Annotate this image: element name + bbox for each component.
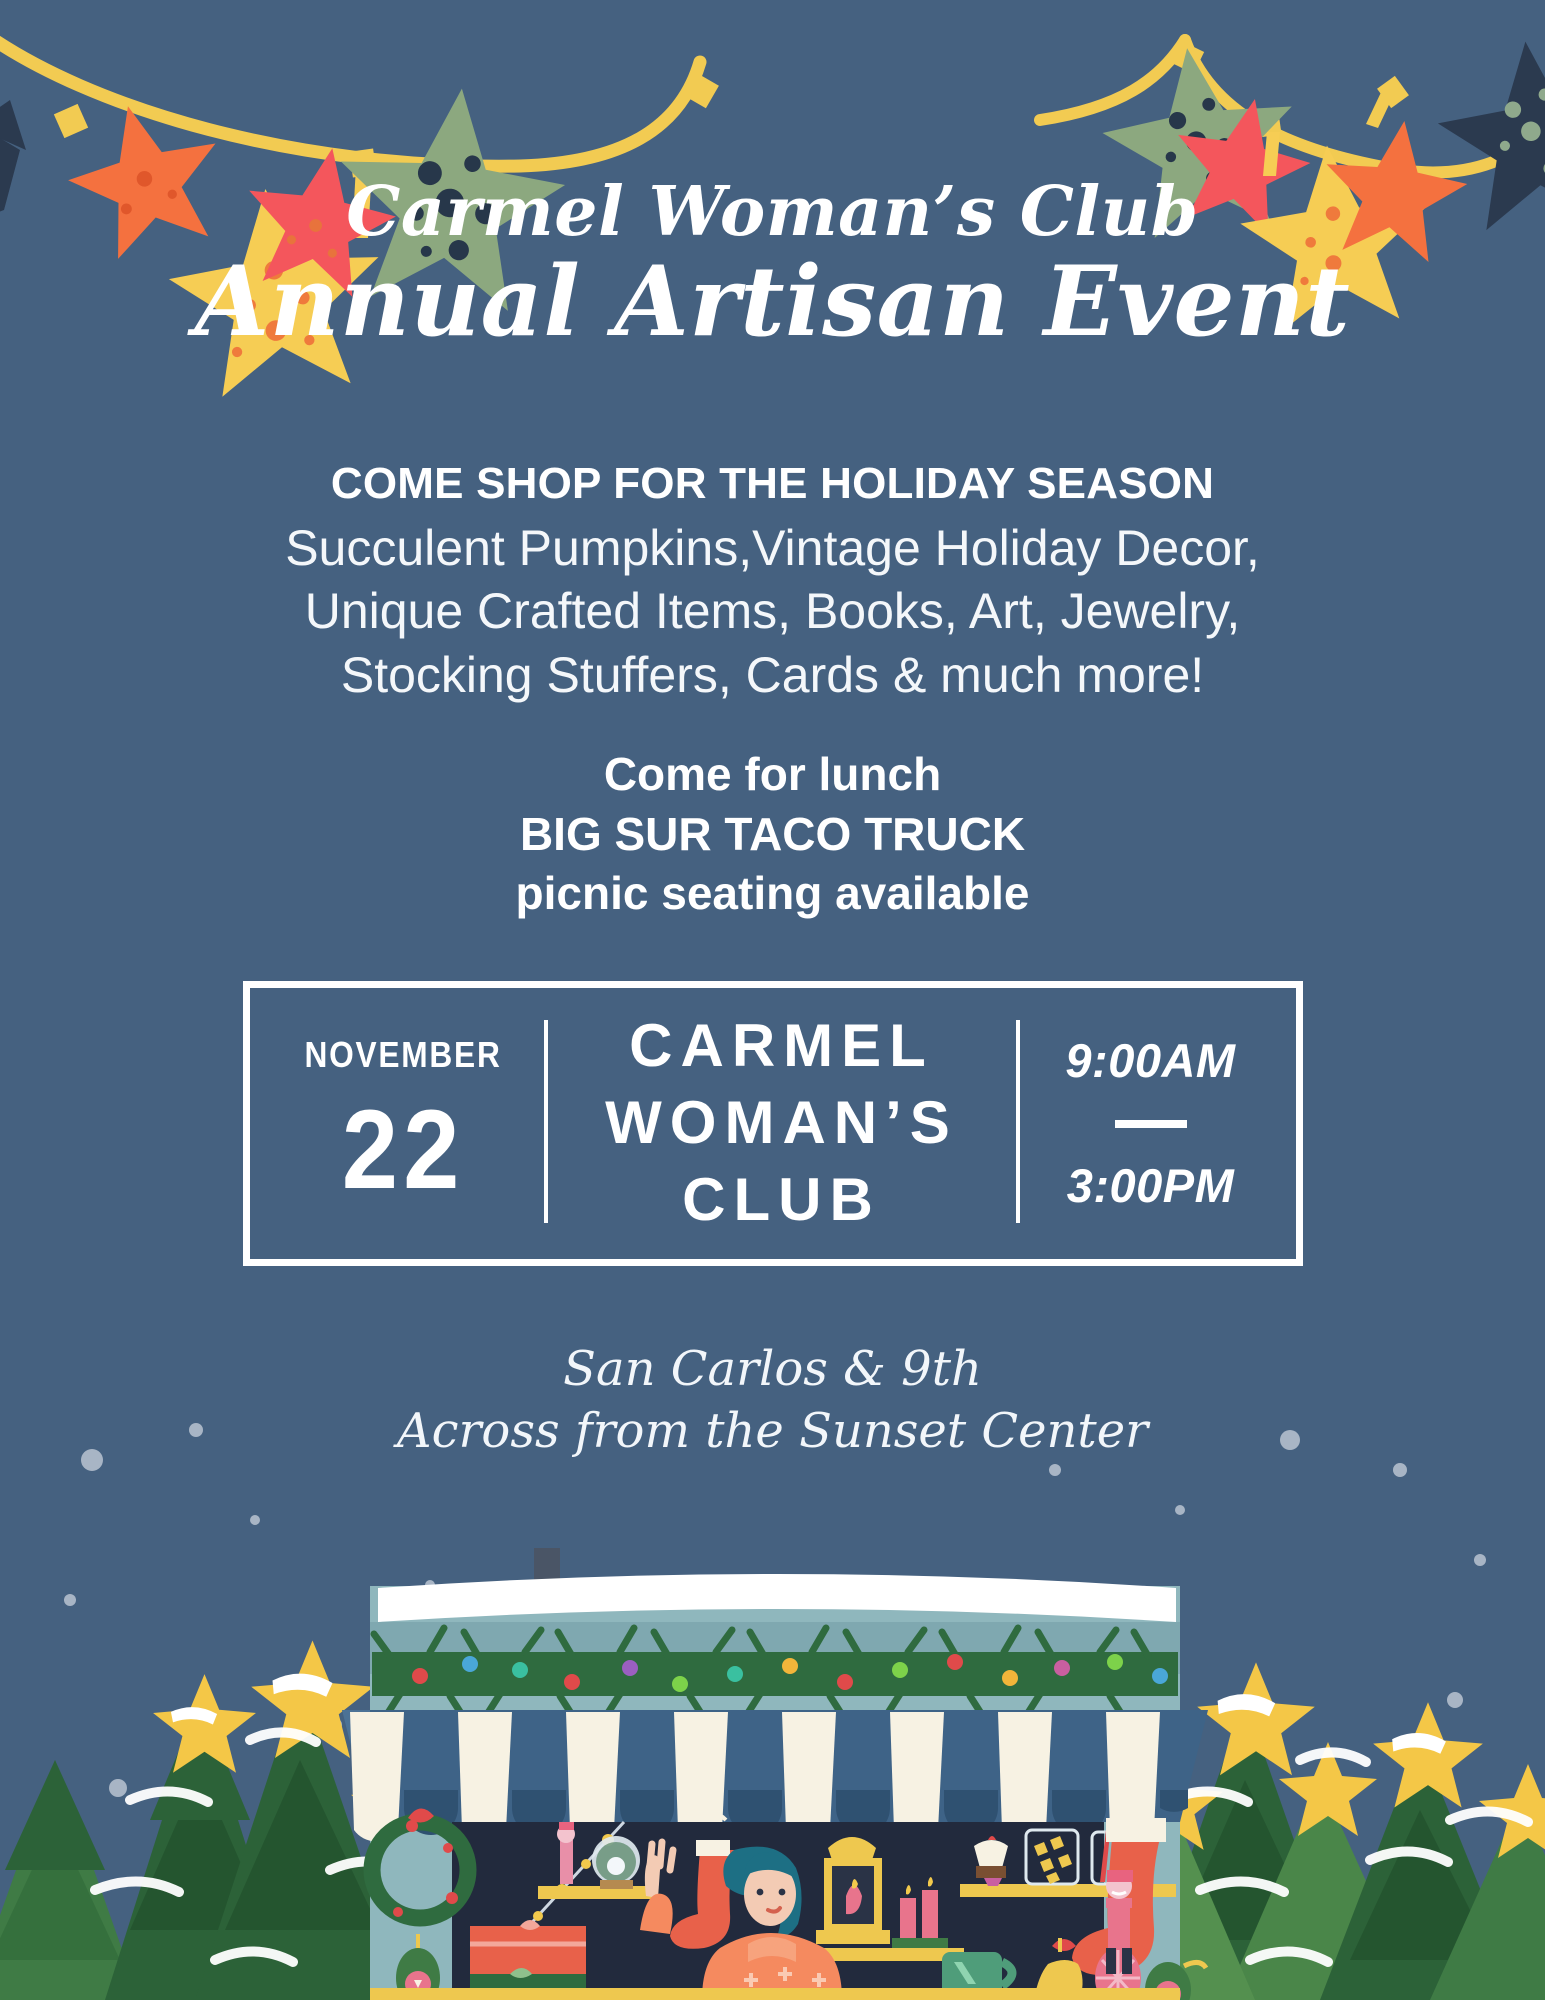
mug: [942, 1952, 1012, 2000]
fairy-light-stars: [487, 1834, 614, 1973]
promo-items-line: Unique Crafted Items, Books, Art, Jewelr…: [0, 580, 1545, 644]
pine-tree: [0, 1760, 140, 2000]
promo-headline: COME SHOP FOR THE HOLIDAY SEASON: [0, 459, 1545, 509]
star-topper: [1479, 1764, 1545, 1858]
pine-tree: [1225, 1780, 1420, 2000]
dessert-cup: [974, 1836, 1008, 1886]
star-topper: [351, 1754, 459, 1857]
title-line-2: Annual Artisan Event: [0, 252, 1545, 353]
event-details-box: NOVEMBER 22 CARMEL WOMAN’S CLUB 9:00AM: [243, 981, 1303, 1265]
event-day: 22: [342, 1094, 465, 1206]
stocking-large: [1072, 1818, 1166, 1975]
roof-snow: [378, 1574, 1176, 1622]
pine-tree: [1075, 1790, 1255, 2000]
promo-items-line: Succulent Pumpkins,Vintage Holiday Decor…: [0, 517, 1545, 581]
garland-lights: [412, 1654, 1168, 1692]
venue-line-1: CARMEL: [605, 1008, 958, 1085]
promo-items-list: Succulent Pumpkins,Vintage Holiday Decor…: [0, 517, 1545, 708]
awning-base: [342, 1710, 1208, 1822]
lantern: [816, 1837, 890, 1944]
ornament: [396, 1934, 440, 2000]
awning-scallops: [350, 1712, 1160, 1841]
pine-trees-right: [1075, 1662, 1545, 2000]
pine-tree: [195, 1680, 410, 2000]
pine-trees-left: [0, 1641, 655, 2000]
date-column: NOVEMBER 22: [264, 1002, 544, 1244]
cookie-jar: [1026, 1830, 1078, 1884]
lunch-line-2: BIG SUR TACO TRUCK: [0, 805, 1545, 864]
nutcracker: [1106, 1870, 1133, 1974]
stall-garland: [372, 1628, 1178, 1718]
venue-column: CARMEL WOMAN’S CLUB: [548, 1002, 1016, 1244]
poster-canvas: Carmel Woman’s Club Annual Artisan Event…: [0, 0, 1545, 2000]
event-address: San Carlos & 9th Across from the Sunset …: [0, 1338, 1545, 1463]
nutcracker-figure: [557, 1822, 575, 1884]
pine-tree: [1430, 1800, 1545, 2000]
star-topper: [1197, 1662, 1315, 1775]
event-time-start: 9:00AM: [1065, 1033, 1235, 1088]
star-topper: [1373, 1702, 1483, 1807]
lunch-line-1: Come for lunch: [0, 745, 1545, 804]
awning-scallops-dark: [404, 1790, 1188, 1835]
event-month: NOVEMBER: [305, 1034, 502, 1076]
counter: [370, 1988, 1180, 2000]
shelf: [538, 1886, 654, 1899]
pine-tree: [1320, 1740, 1525, 2000]
star-topper: [251, 1641, 374, 1759]
address-line-1: San Carlos & 9th: [0, 1338, 1545, 1400]
event-time-end: 3:00PM: [1067, 1158, 1235, 1213]
ornament: [1095, 1948, 1141, 2000]
time-range-dash: [1115, 1120, 1187, 1128]
address-line-2: Across from the Sunset Center: [0, 1400, 1545, 1462]
snow-globe: [592, 1836, 640, 1889]
venue-line-2: WOMAN’S: [605, 1085, 958, 1162]
poster-title: Carmel Woman’s Club Annual Artisan Event: [0, 0, 1545, 353]
market-stall: [342, 1548, 1208, 2000]
lunch-block: Come for lunch BIG SUR TACO TRUCK picnic…: [0, 745, 1545, 923]
star-topper: [153, 1674, 256, 1773]
pine-tree: [300, 1790, 495, 2000]
wreath: [372, 1808, 468, 1918]
star-topper: [1123, 1754, 1223, 1850]
gift-boxes: [470, 1920, 586, 2000]
pine-tree: [440, 1740, 655, 2000]
title-line-1: Carmel Woman’s Club: [0, 178, 1545, 246]
candy-cane-jar: [1092, 1823, 1146, 1884]
ornament: [1145, 1962, 1206, 2000]
golden-boot: [1034, 1938, 1083, 2000]
pine-tree: [105, 1700, 295, 2000]
stall-body: [370, 1586, 1180, 2000]
shelf: [960, 1884, 1176, 1897]
shopkeeper-woman: [640, 1842, 842, 2000]
candles: [892, 1877, 948, 1948]
fairy-lights: [470, 1822, 624, 1990]
stocking: [670, 1813, 734, 1949]
roof-band: [370, 1622, 1180, 1674]
stall-interior: [452, 1822, 1104, 2000]
pine-tree: [1140, 1700, 1350, 2000]
venue-line-3: CLUB: [605, 1162, 958, 1239]
promo-items-line: Stocking Stuffers, Cards & much more!: [0, 644, 1545, 708]
chimney: [534, 1548, 560, 1586]
time-column: 9:00AM 3:00PM: [1020, 1002, 1282, 1244]
star-topper: [501, 1702, 609, 1805]
star-topper: [1279, 1742, 1377, 1836]
lunch-line-3: picnic seating available: [0, 864, 1545, 923]
shelf: [812, 1948, 964, 1961]
